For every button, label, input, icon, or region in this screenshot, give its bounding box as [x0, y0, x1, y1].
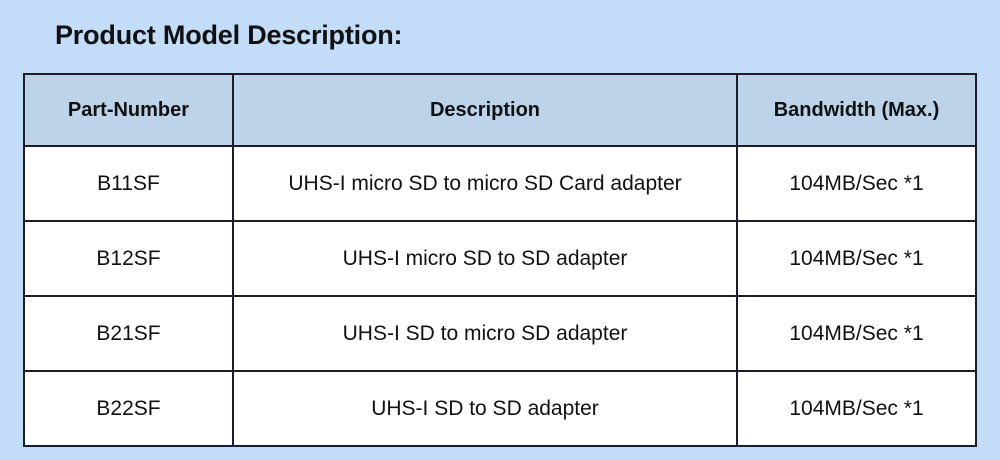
column-header-part-number: Part-Number — [24, 74, 233, 146]
cell-bandwidth: 104MB/Sec *1 — [737, 221, 976, 296]
cell-part-number: B21SF — [24, 296, 233, 371]
product-model-description-page: Product Model Description: ADT-Link adt-… — [0, 0, 1000, 460]
product-model-table: Part-Number Description Bandwidth (Max.)… — [23, 73, 977, 447]
cell-bandwidth: 104MB/Sec *1 — [737, 371, 976, 446]
page-title: Product Model Description: — [55, 20, 402, 51]
cell-part-number: B22SF — [24, 371, 233, 446]
table-body: B11SF UHS-I micro SD to micro SD Card ad… — [24, 146, 976, 446]
table-row: B21SF UHS-I SD to micro SD adapter 104MB… — [24, 296, 976, 371]
cell-part-number: B11SF — [24, 146, 233, 221]
column-header-bandwidth: Bandwidth (Max.) — [737, 74, 976, 146]
table-row: B11SF UHS-I micro SD to micro SD Card ad… — [24, 146, 976, 221]
cell-part-number: B12SF — [24, 221, 233, 296]
table-header: Part-Number Description Bandwidth (Max.) — [24, 74, 976, 146]
cell-description: UHS-I SD to SD adapter — [233, 371, 737, 446]
table-row: B12SF UHS-I micro SD to SD adapter 104MB… — [24, 221, 976, 296]
table-header-row: Part-Number Description Bandwidth (Max.) — [24, 74, 976, 146]
column-header-description: Description — [233, 74, 737, 146]
cell-description: UHS-I micro SD to micro SD Card adapter — [233, 146, 737, 221]
cell-bandwidth: 104MB/Sec *1 — [737, 296, 976, 371]
cell-description: UHS-I SD to micro SD adapter — [233, 296, 737, 371]
cell-bandwidth: 104MB/Sec *1 — [737, 146, 976, 221]
cell-description: UHS-I micro SD to SD adapter — [233, 221, 737, 296]
table-row: B22SF UHS-I SD to SD adapter 104MB/Sec *… — [24, 371, 976, 446]
